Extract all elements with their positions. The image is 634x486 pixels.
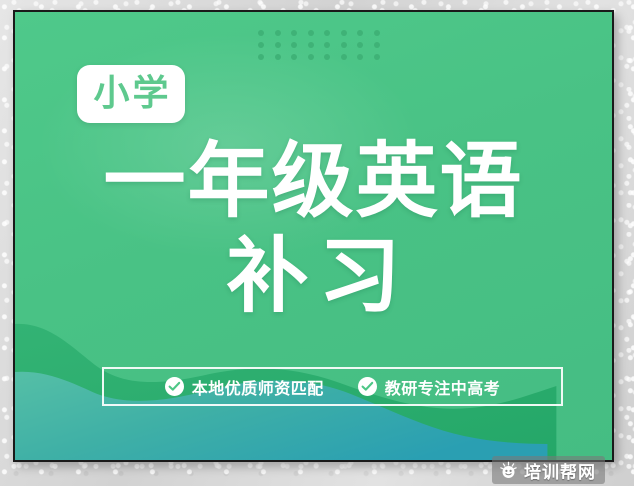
feature-item-0: 本地优质师资匹配 <box>165 375 324 399</box>
decor-dot <box>308 30 314 36</box>
decor-dot <box>374 42 380 48</box>
grade-level-tag-label: 小学 <box>90 76 171 112</box>
decor-dot <box>275 54 281 60</box>
page-title: 一年级英语 补习 <box>15 139 612 321</box>
page-background: 小学 一年级英语 补习 本地优质师资匹配 <box>0 0 634 486</box>
decor-dot <box>291 42 297 48</box>
decor-dot <box>341 54 347 60</box>
sun-face-icon <box>499 461 518 480</box>
decor-dot <box>357 42 363 48</box>
watermark: 培训帮网 <box>492 456 605 484</box>
decor-dot <box>357 30 363 36</box>
decor-dot <box>258 30 264 36</box>
course-poster-card: 小学 一年级英语 补习 本地优质师资匹配 <box>13 10 614 462</box>
decor-dot <box>258 42 264 48</box>
decor-dot <box>324 30 330 36</box>
decor-dot <box>275 42 281 48</box>
decor-dot <box>308 54 314 60</box>
decor-dot <box>291 54 297 60</box>
headline-line-1: 一年级英语 <box>15 139 612 226</box>
feature-label-1: 教研专注中高考 <box>385 375 501 399</box>
decor-dot <box>357 54 363 60</box>
decor-dot <box>341 42 347 48</box>
feature-label-0: 本地优质师资匹配 <box>192 375 324 399</box>
decor-dot <box>324 42 330 48</box>
grade-level-tag: 小学 <box>77 65 185 123</box>
decor-dot <box>374 54 380 60</box>
dot-grid-decoration <box>253 27 385 63</box>
decor-dot <box>374 30 380 36</box>
watermark-label: 培训帮网 <box>524 458 596 483</box>
decor-dot <box>291 30 297 36</box>
decor-dot <box>308 42 314 48</box>
feature-bar: 本地优质师资匹配 教研专注中高考 <box>102 367 563 406</box>
headline-line-2: 补习 <box>15 234 612 321</box>
check-circle-icon <box>165 377 184 396</box>
decor-dot <box>258 54 264 60</box>
check-circle-icon <box>358 377 377 396</box>
decor-dot <box>324 54 330 60</box>
decor-dot <box>275 30 281 36</box>
feature-item-1: 教研专注中高考 <box>358 375 501 399</box>
decor-dot <box>341 30 347 36</box>
